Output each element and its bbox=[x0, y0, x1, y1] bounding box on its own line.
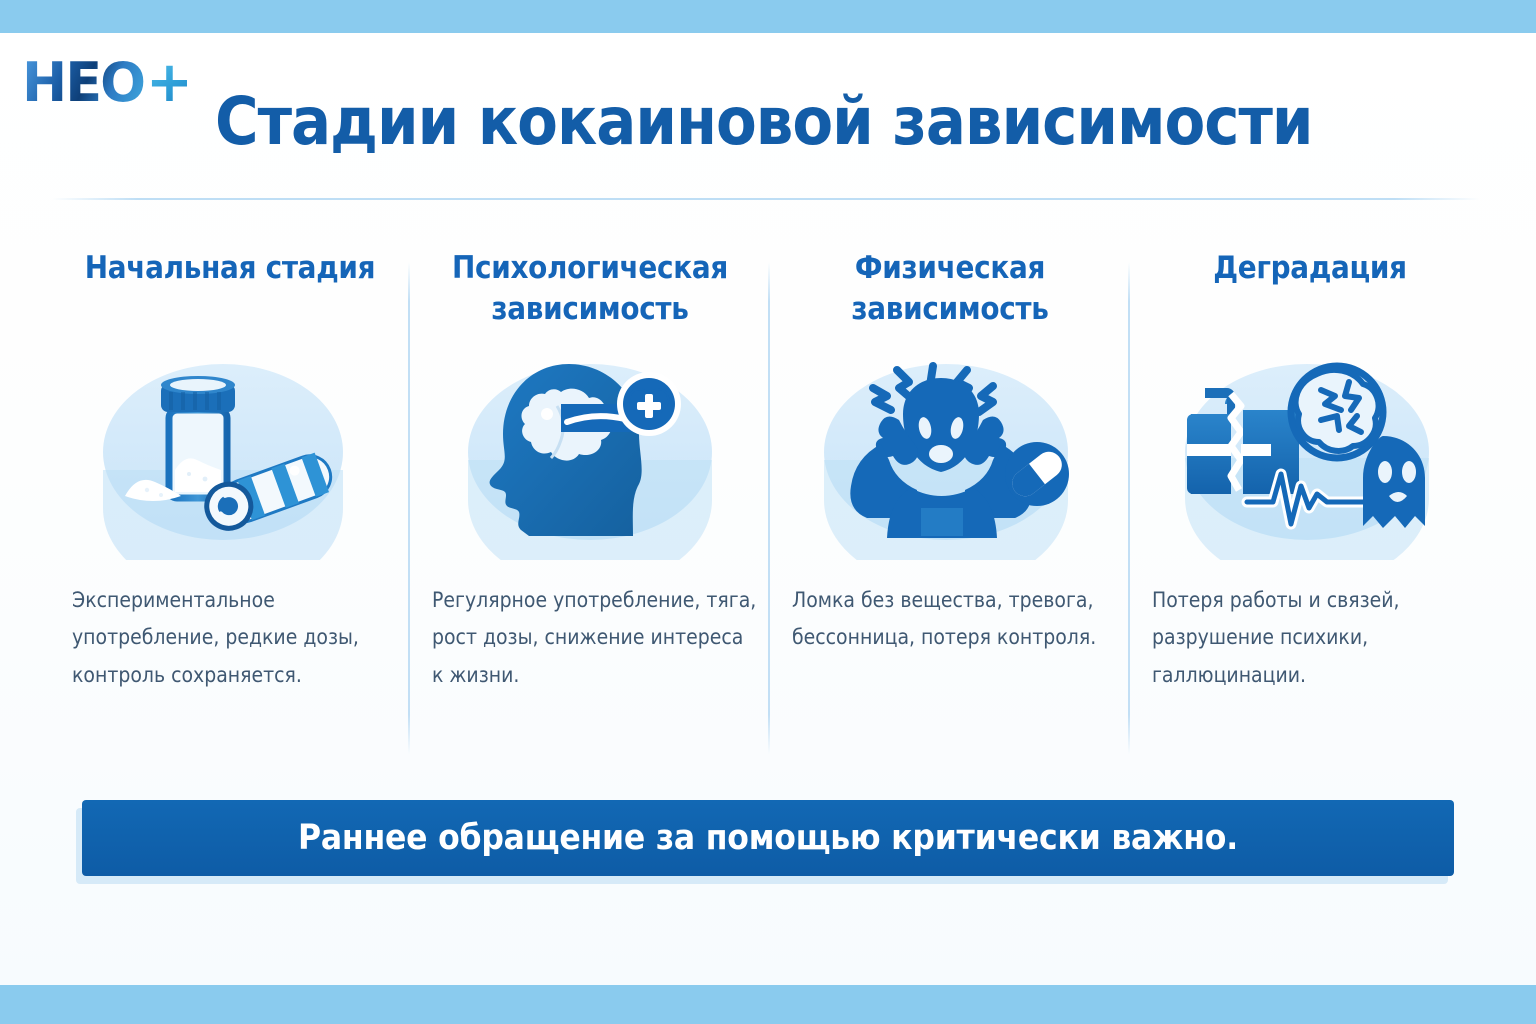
stage-column-3: Физическая зависимость bbox=[770, 248, 1130, 768]
stage-body-4: Потеря работы и связей, разрушение психи… bbox=[1142, 582, 1478, 694]
logo-plus-icon: + bbox=[146, 55, 191, 111]
call-to-action-banner: Раннее обращение за помощью критически в… bbox=[82, 800, 1454, 876]
bottom-accent-bar bbox=[0, 985, 1536, 1024]
stage-body-1: Экспериментальное употребление, редкие д… bbox=[62, 582, 398, 694]
stage-column-4: Деградация bbox=[1130, 248, 1490, 768]
stage-heading-3: Физическая зависимость bbox=[782, 248, 1118, 334]
stage-heading-2: Психологическая зависимость bbox=[422, 248, 758, 334]
stage-body-3: Ломка без вещества, тревога, бессонница,… bbox=[782, 582, 1118, 657]
top-accent-bar bbox=[0, 0, 1536, 33]
infographic-page: HEO + Стадии кокаиновой зависимости Нача… bbox=[0, 0, 1536, 1024]
stage-heading-1: Начальная стадия bbox=[85, 248, 376, 334]
stage-column-2: Психологическая зависимость bbox=[410, 248, 770, 768]
withdrawal-headache-person-icon bbox=[811, 348, 1089, 560]
powder-jar-and-rolled-bill-icon bbox=[91, 348, 369, 560]
stage-column-1: Начальная стадия bbox=[50, 248, 410, 768]
neo-plus-logo: HEO + bbox=[22, 52, 202, 114]
stages-row: Начальная стадия bbox=[50, 248, 1490, 768]
page-title: Стадии кокаиновой зависимости bbox=[215, 78, 1485, 168]
banner-text: Раннее обращение за помощью критически в… bbox=[298, 818, 1238, 858]
logo-wordmark: HEO bbox=[22, 56, 144, 110]
stage-body-2: Регулярное употребление, тяга, рост дозы… bbox=[422, 582, 758, 694]
broken-briefcase-brain-ghost-icon bbox=[1171, 348, 1449, 560]
banner-surface: Раннее обращение за помощью критически в… bbox=[82, 800, 1454, 876]
stage-heading-4: Деградация bbox=[1213, 248, 1407, 334]
head-brain-craving-icon bbox=[451, 348, 729, 560]
title-divider bbox=[52, 198, 1480, 200]
